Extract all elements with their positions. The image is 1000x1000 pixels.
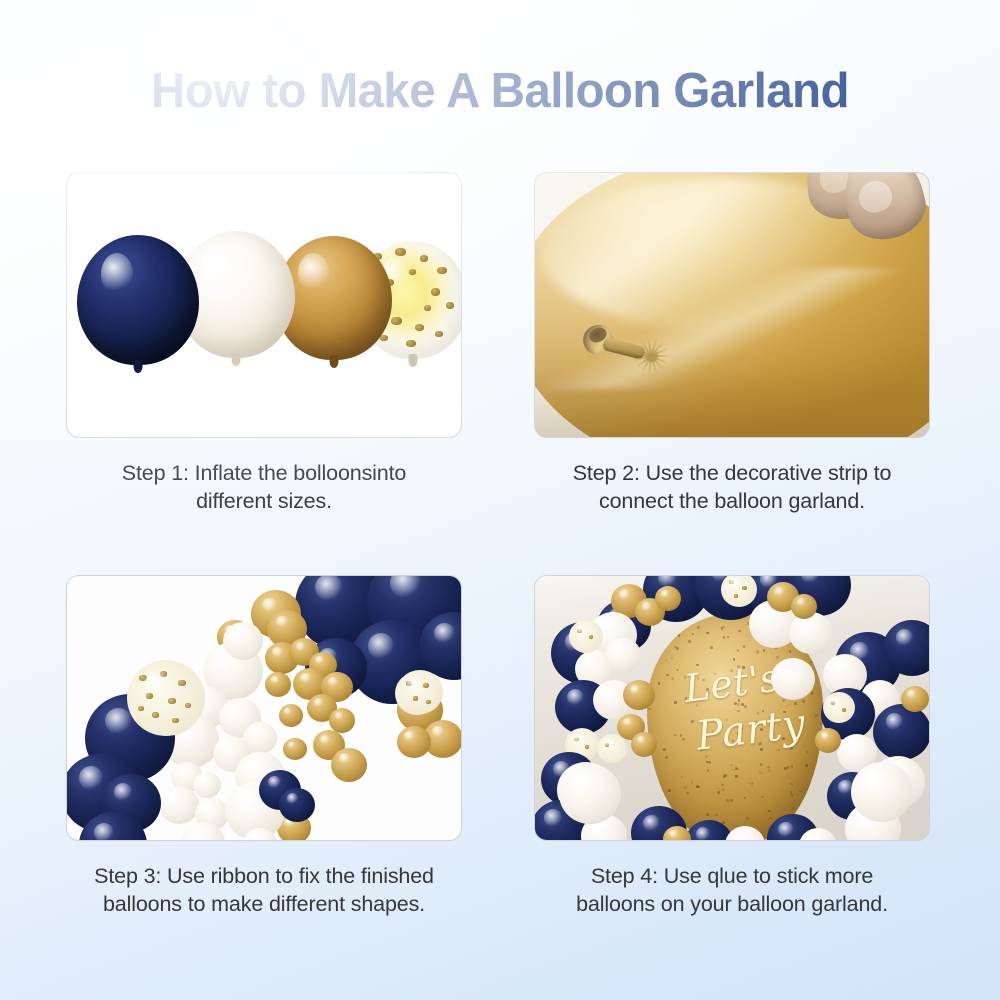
sequin-dot xyxy=(791,765,794,768)
step-card-4: Let's Party xyxy=(534,575,930,919)
sequin-dot xyxy=(726,799,729,802)
sequin-dot xyxy=(777,749,780,752)
balloon-highlight xyxy=(298,253,328,293)
sequin-dot xyxy=(724,774,727,777)
sequin-dot xyxy=(688,640,691,643)
sequin-dot xyxy=(697,626,700,629)
step-1-image-panel xyxy=(66,172,462,438)
sequin-dot xyxy=(686,792,689,795)
sequin-dot xyxy=(684,676,687,679)
steps-grid: Step 1: Inflate the bolloonsinto differe… xyxy=(66,172,934,932)
sequin-dot xyxy=(760,748,763,751)
sequin-dot xyxy=(735,724,738,727)
sequin-dot xyxy=(648,708,651,711)
sequin-dot xyxy=(668,789,671,792)
sequin-dot xyxy=(727,636,730,639)
sequin-dot xyxy=(759,742,762,745)
sequin-dot xyxy=(697,677,700,680)
infographic-page: How to Make A Balloon Garland xyxy=(0,0,1000,1000)
sequin-dot xyxy=(746,817,749,820)
sequin-dot xyxy=(744,705,747,708)
sequin-dot xyxy=(651,627,654,630)
sequin-dot xyxy=(665,659,668,662)
sequin-dot xyxy=(740,727,743,730)
step-1-caption: Step 1: Inflate the bolloonsinto differe… xyxy=(66,459,462,516)
sequin-dot xyxy=(730,799,733,802)
balloon-neck xyxy=(409,354,418,367)
sequin-dot xyxy=(709,761,712,764)
fingernail xyxy=(856,177,895,215)
sequin-dot xyxy=(710,646,713,649)
sequin-dot xyxy=(732,769,735,772)
sequin-dot xyxy=(768,810,771,813)
step-2-caption-line-2: connect the balloon garland. xyxy=(599,489,865,513)
balloon-neck xyxy=(329,355,338,368)
step-4-image-panel: Let's Party xyxy=(534,575,930,841)
sequin-dot xyxy=(759,771,762,774)
sequin-dot xyxy=(647,764,650,767)
step-4-caption-line-1: Step 4: Use qlue to stick more xyxy=(591,864,873,888)
sequin-dot xyxy=(790,783,793,786)
sequin-dot xyxy=(754,721,757,724)
sequin-dot xyxy=(797,735,800,738)
balloon-highlight xyxy=(101,253,133,295)
sequin-dot xyxy=(736,768,739,771)
sequin-dot xyxy=(743,645,746,648)
sequin-dot xyxy=(737,703,740,706)
sequin-dot xyxy=(810,661,813,664)
sequin-dot xyxy=(791,794,794,797)
sequin-dot xyxy=(790,747,793,750)
sequin-dot xyxy=(700,748,703,751)
sequin-dot xyxy=(732,740,735,743)
backdrop-text-line-2: Party xyxy=(674,701,823,759)
sequin-dot xyxy=(761,796,764,799)
sequin-dot xyxy=(685,697,688,700)
sequin-dot xyxy=(678,634,681,637)
sequin-dot xyxy=(760,728,763,731)
sequin-dot xyxy=(726,718,729,721)
sequin-dot xyxy=(744,797,747,800)
sequin-dot xyxy=(802,700,805,703)
sequin-dot xyxy=(671,677,674,680)
sequin-dot xyxy=(673,734,676,737)
balloon-neck xyxy=(232,353,241,366)
sequin-dot xyxy=(737,710,740,713)
nozzle-burst xyxy=(633,339,671,373)
sequin-dot xyxy=(808,804,811,807)
sequin-dot xyxy=(708,691,711,694)
sequin-dot xyxy=(658,682,661,685)
sequin-dot xyxy=(756,650,759,653)
sequin-dot xyxy=(653,634,656,637)
sequin-dot xyxy=(680,734,683,737)
sequin-dot xyxy=(721,784,724,787)
sequin-dot xyxy=(692,633,695,636)
sequin-dot xyxy=(763,649,766,652)
sequin-dot xyxy=(778,724,781,727)
step-card-1: Step 1: Inflate the bolloonsinto differe… xyxy=(66,172,462,516)
sequin-dot xyxy=(707,769,710,772)
sequin-dot xyxy=(794,702,797,705)
sequin-dot xyxy=(691,781,694,784)
sequin-dot xyxy=(712,731,715,734)
sequin-dot xyxy=(660,797,663,800)
navy-balloon xyxy=(77,235,199,365)
sequin-dot xyxy=(682,738,685,741)
sequin-dot xyxy=(717,726,720,729)
sequin-dot xyxy=(815,714,818,717)
step-2-caption-line-1: Step 2: Use the decorative strip to xyxy=(573,461,892,485)
sequin-dot xyxy=(706,813,709,816)
step-card-3: Step 3: Use ribbon to fix the finished b… xyxy=(66,575,462,919)
finished-balloon-wall-illustration: Let's Party xyxy=(535,576,929,840)
sequin-dot xyxy=(762,710,765,713)
sequin-dot xyxy=(782,699,785,702)
sequin-dot xyxy=(776,656,779,659)
sequin-dot xyxy=(696,704,699,707)
step-4-caption: Step 4: Use qlue to stick more balloons … xyxy=(534,862,930,919)
sequin-dot xyxy=(684,786,687,789)
step-1-caption-line-1: Step 1: Inflate the bolloonsinto xyxy=(122,461,406,485)
step-2-image-panel xyxy=(534,172,930,438)
sequin-dot xyxy=(811,692,814,695)
sequin-dot xyxy=(730,764,733,767)
sequin-dot xyxy=(714,673,717,676)
sequin-dot xyxy=(722,788,725,791)
sequin-dot xyxy=(676,647,679,650)
sequin-dot xyxy=(697,786,700,789)
sequin-dot xyxy=(742,666,745,669)
sequin-dot xyxy=(806,751,809,754)
balloon-neck xyxy=(134,360,143,373)
page-title: How to Make A Balloon Garland xyxy=(15,63,985,119)
sequin-dot xyxy=(799,790,802,793)
sequin-dot xyxy=(676,669,679,672)
sequin-dot xyxy=(737,649,740,652)
sequin-dot xyxy=(715,814,718,817)
sequin-dot xyxy=(671,657,674,660)
sequin-dot xyxy=(782,737,785,740)
sequin-dot xyxy=(705,755,708,758)
sequin-dot xyxy=(696,664,699,667)
balloon-highlight xyxy=(201,249,232,290)
sequin-dot xyxy=(757,712,760,715)
step-3-caption-line-1: Step 3: Use ribbon to fix the finished xyxy=(94,864,434,888)
balloons-row-illustration xyxy=(67,173,461,437)
step-1-caption-line-2: different sizes. xyxy=(196,489,332,513)
sequin-dot xyxy=(738,630,741,633)
sequin-dot xyxy=(738,699,741,702)
sequin-dot xyxy=(702,679,705,682)
sequin-dot xyxy=(737,732,740,735)
sequin-dot xyxy=(783,711,786,714)
step-3-caption: Step 3: Use ribbon to fix the finished b… xyxy=(66,862,462,919)
sequin-dot xyxy=(658,632,661,635)
sequin-dot xyxy=(717,791,720,794)
sequin-dot xyxy=(789,650,792,653)
sequin-dot xyxy=(767,766,770,769)
sequin-dot xyxy=(663,748,666,751)
sequin-dot xyxy=(792,807,795,810)
sequin-dot xyxy=(805,764,808,767)
step-card-2: Step 2: Use the decorative strip to conn… xyxy=(534,172,930,516)
sequin-dot xyxy=(723,636,726,639)
step-4-caption-line-2: balloons on your balloon garland. xyxy=(576,892,888,916)
sequin-dot xyxy=(674,701,677,704)
sequin-dot xyxy=(681,776,684,779)
sequin-dot xyxy=(733,658,736,661)
step-2-caption: Step 2: Use the decorative strip to conn… xyxy=(534,459,930,516)
step-3-image-panel xyxy=(66,575,462,841)
balloon-knot-nozzle xyxy=(583,325,675,381)
sequin-dot xyxy=(691,720,694,723)
sequin-dot xyxy=(666,674,669,677)
sequin-dot xyxy=(760,763,763,766)
gold-balloon-closeup-illustration xyxy=(535,173,929,437)
sequin-dot xyxy=(730,669,733,672)
balloon-garland-arch-illustration xyxy=(67,576,461,840)
sequin-dot xyxy=(737,665,740,668)
sequin-dot xyxy=(706,632,709,635)
sequin-dot xyxy=(665,756,668,759)
sequin-dot xyxy=(768,769,771,772)
sequin-dot xyxy=(688,673,691,676)
sequin-dot xyxy=(703,735,706,738)
step-3-caption-line-2: balloons to make different shapes. xyxy=(103,892,425,916)
sequin-dot xyxy=(769,817,772,820)
sequin-dot xyxy=(735,775,738,778)
sequin-dot xyxy=(787,766,790,769)
